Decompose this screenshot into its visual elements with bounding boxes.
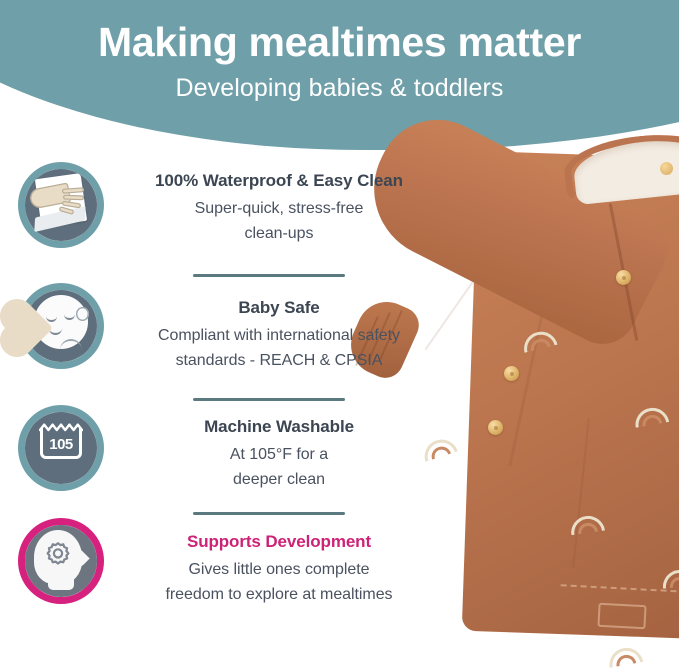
feature-text: 100% Waterproof & Easy Clean Super-quick… xyxy=(118,170,440,247)
feature-body: At 105°F for a deeper clean xyxy=(118,443,440,493)
feature-heading: Baby Safe xyxy=(118,297,440,318)
feature-body-line: Gives little ones complete xyxy=(118,558,440,583)
rainbow-print xyxy=(607,645,643,668)
page-subtitle: Developing babies & toddlers xyxy=(0,76,679,101)
feature-text: Machine Washable At 105°F for a deeper c… xyxy=(118,416,440,493)
baby-ear xyxy=(76,307,89,321)
feature-body: Compliant with international safety stan… xyxy=(118,324,440,374)
icon-art xyxy=(18,518,104,604)
snap-button xyxy=(504,366,519,381)
page-title: Making mealtimes matter xyxy=(0,22,679,63)
feature-body: Super-quick, stress-free clean-ups xyxy=(118,197,440,247)
finger xyxy=(63,195,84,201)
feature-body-line: At 105°F for a xyxy=(118,443,440,468)
feature-text: Supports Development Gives little ones c… xyxy=(118,531,440,608)
feature-body-line: clean-ups xyxy=(118,222,440,247)
icon-art: 105 xyxy=(18,405,104,491)
feature-divider xyxy=(193,274,345,277)
snap-dot xyxy=(622,276,626,280)
feature-list: 100% Waterproof & Easy Clean Super-quick… xyxy=(0,152,440,668)
snap-dot xyxy=(510,372,514,376)
icon-art xyxy=(18,283,104,369)
wash-basin-105-icon: 105 xyxy=(18,405,104,491)
hand-wiping-cloth-icon xyxy=(18,162,104,248)
feature-body-line: Compliant with international safety xyxy=(118,324,440,349)
head-gear-icon xyxy=(18,518,104,604)
baby-face-heart-icon xyxy=(18,283,104,369)
feature-body-line: Super-quick, stress-free xyxy=(118,197,440,222)
feature-divider xyxy=(193,398,345,401)
feature-heading: 100% Waterproof & Easy Clean xyxy=(118,170,440,191)
collar-snap-button xyxy=(660,162,673,175)
wash-temperature-label: 105 xyxy=(40,436,82,453)
gear-shape xyxy=(44,540,72,568)
feature-text: Baby Safe Compliant with international s… xyxy=(118,297,440,374)
feature-heading: Supports Development xyxy=(118,531,440,552)
icon-art xyxy=(18,162,104,248)
feature-body-line: deeper clean xyxy=(118,468,440,493)
feature-divider xyxy=(193,512,345,515)
head-neck xyxy=(48,574,74,590)
infographic-root: Making mealtimes matter Developing babie… xyxy=(0,0,679,668)
snap-button xyxy=(488,420,503,435)
feature-body-line: freedom to explore at mealtimes xyxy=(118,583,440,608)
feature-body: Gives little ones complete freedom to ex… xyxy=(118,558,440,608)
snap-dot xyxy=(494,426,498,430)
feature-heading: Machine Washable xyxy=(118,416,440,437)
feature-body-line: standards - REACH & CPSIA xyxy=(118,349,440,374)
snap-button xyxy=(616,270,631,285)
garment-care-tag xyxy=(597,603,646,629)
